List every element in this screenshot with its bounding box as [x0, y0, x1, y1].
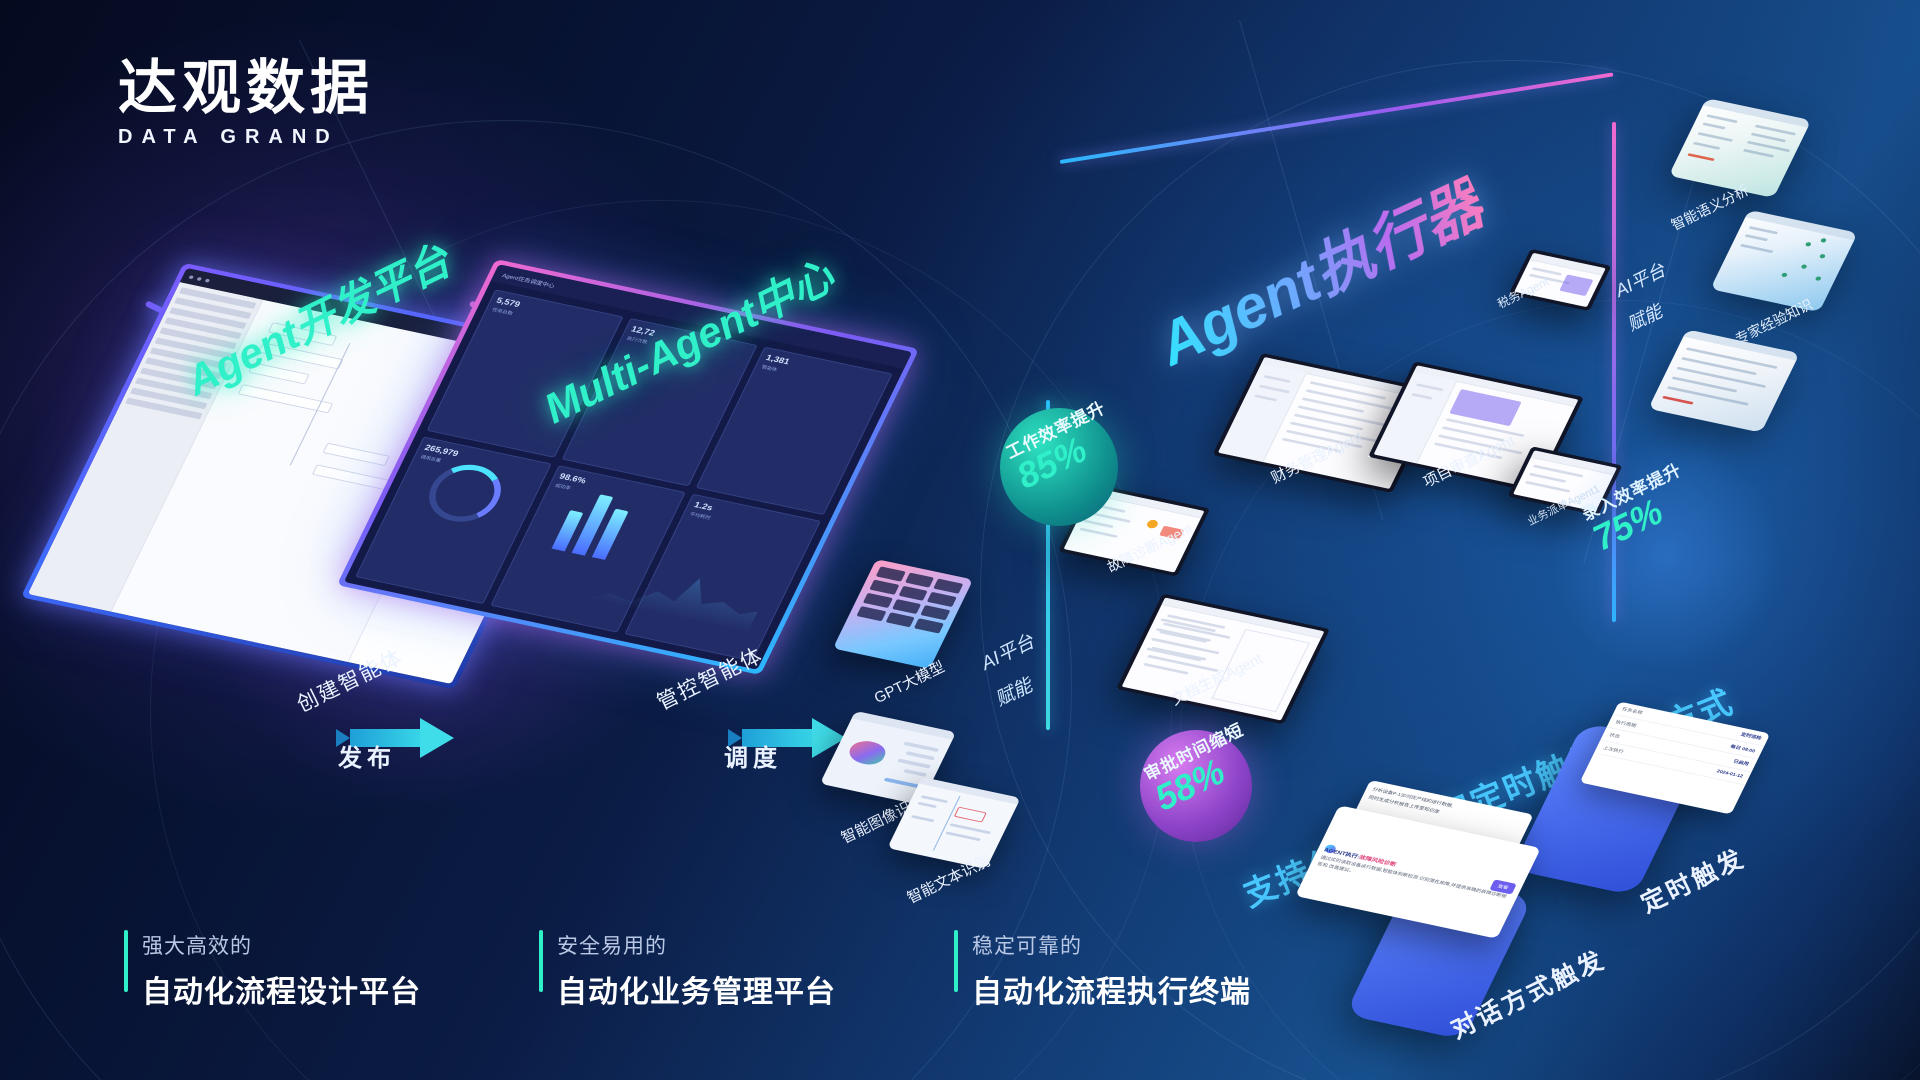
content-line — [1079, 528, 1118, 538]
chip — [863, 593, 893, 608]
card-line — [1740, 244, 1773, 253]
card-line — [921, 795, 948, 803]
infographic-canvas: 达观数据 DATA GRAND — [0, 0, 1920, 1080]
card-highlight — [1687, 153, 1714, 161]
card-line — [903, 769, 927, 777]
card-line — [1702, 122, 1725, 129]
row-key: 状态 — [1608, 732, 1621, 740]
chip — [869, 580, 899, 595]
content-line — [1083, 520, 1113, 529]
toolbar — [1531, 450, 1617, 475]
row-key: 上次执行 — [1602, 745, 1625, 755]
caption-bar — [124, 930, 128, 992]
flow-node[interactable] — [238, 384, 334, 413]
chip — [905, 572, 935, 587]
chip — [892, 599, 922, 614]
device-frame — [1116, 593, 1330, 724]
brand-logo: 达观数据 DATA GRAND — [118, 58, 374, 149]
label-ai-platform-enable-mid-2: 赋能 — [990, 671, 1036, 712]
caption-block-3: 稳定可靠的 自动化流程执行终端 — [954, 930, 1251, 1011]
arrow-label-publish: 发布 — [338, 738, 396, 773]
window-dot — [197, 276, 203, 280]
heading-agent-executor: Agent执行器 — [1142, 156, 1496, 383]
card-divider — [933, 796, 961, 851]
device-screen — [1122, 598, 1325, 721]
content-line — [1529, 473, 1567, 483]
status-dot — [1145, 519, 1159, 529]
card-header — [1703, 98, 1811, 128]
card-line — [1749, 226, 1778, 234]
card-line — [1751, 133, 1786, 143]
row-key: 执行周期 — [1615, 719, 1638, 729]
detected-region — [954, 807, 987, 823]
card-line — [1743, 149, 1774, 158]
caption-sub: 强大高效的 — [142, 930, 421, 960]
arrow-label-dispatch: 调度 — [724, 738, 782, 773]
bottom-captions: 强大高效的 自动化流程设计平台 安全易用的 自动化业务管理平台 稳定可靠的 自动… — [124, 930, 1251, 1011]
graph-node — [1820, 238, 1827, 243]
flow-node[interactable] — [323, 443, 390, 466]
label-ai-platform-enable-right-2: 赋能 — [1622, 298, 1666, 337]
card-line — [945, 831, 980, 841]
card-gpt-model[interactable] — [833, 559, 973, 669]
screen-sidebar — [1218, 364, 1307, 463]
image-sample — [845, 738, 890, 767]
card-line — [1693, 142, 1720, 150]
label-ai-platform-enable-right-1: AI平台 — [1610, 256, 1669, 303]
arrow-head — [420, 718, 454, 758]
chip — [927, 592, 957, 607]
accent-block — [1559, 274, 1593, 296]
card-line — [1745, 234, 1768, 241]
graph-node — [1819, 254, 1826, 259]
card-line — [1676, 367, 1766, 388]
brand-name-cn: 达观数据 — [118, 58, 374, 117]
label-ai-platform-enable-mid-1: AI平台 — [976, 627, 1038, 676]
row-value: 已启用 — [1732, 758, 1750, 767]
caption-main: 自动化流程设计平台 — [142, 967, 421, 1011]
caption-sub: 安全易用的 — [557, 930, 836, 960]
card-line — [1706, 114, 1737, 123]
row-key: 任务名称 — [1621, 706, 1644, 716]
graph-node — [1805, 242, 1812, 247]
window-dot — [205, 278, 211, 282]
device-doc-generation-agent[interactable] — [1116, 593, 1330, 724]
card-line — [911, 815, 934, 822]
card-header — [852, 711, 956, 740]
graph-node — [1781, 272, 1788, 277]
chip — [856, 606, 886, 621]
chip — [934, 579, 964, 594]
chip — [885, 612, 915, 627]
device-dispatch-agent[interactable] — [1509, 249, 1612, 311]
gpt-chip-grid — [843, 566, 964, 661]
chip — [921, 605, 951, 620]
caption-sub: 稳定可靠的 — [972, 930, 1251, 960]
row-value: 每日 08:00 — [1729, 743, 1756, 754]
chip — [898, 586, 928, 601]
card-line — [918, 802, 937, 808]
device-frame — [1509, 249, 1612, 311]
card-line — [1698, 132, 1733, 142]
caption-bar — [539, 930, 543, 992]
caption-main: 自动化流程执行终端 — [972, 967, 1251, 1011]
card-line — [905, 751, 935, 760]
row-value: 定时巡检 — [1740, 731, 1763, 741]
chip — [914, 618, 944, 633]
executor-frame-top — [1060, 72, 1614, 164]
card-highlight — [1662, 396, 1693, 405]
row-value: 2024-01-12 — [1715, 769, 1744, 780]
graph-node — [1815, 276, 1822, 281]
agent-answer: AGENT执行:故障风险诊断 通过实时读取设备运行数据,智能体判断检测 识别潜在… — [1316, 845, 1516, 907]
card-capability-extra[interactable] — [1648, 329, 1800, 432]
card-line — [897, 758, 931, 768]
caption-main: 自动化业务管理平台 — [557, 967, 836, 1011]
caption-block-2: 安全易用的 自动化业务管理平台 — [539, 930, 836, 1011]
card-expert-knowledge[interactable] — [1710, 210, 1858, 312]
graph-node — [1801, 264, 1808, 269]
caption-block-1: 强大高效的 自动化流程设计平台 — [124, 930, 421, 1011]
chip — [876, 566, 906, 581]
window-dot — [189, 275, 195, 279]
flow-node[interactable] — [312, 464, 394, 490]
card-header — [1745, 210, 1857, 240]
toolbar — [1530, 253, 1606, 276]
brand-name-en: DATA GRAND — [118, 126, 374, 149]
caption-bar — [954, 930, 958, 992]
